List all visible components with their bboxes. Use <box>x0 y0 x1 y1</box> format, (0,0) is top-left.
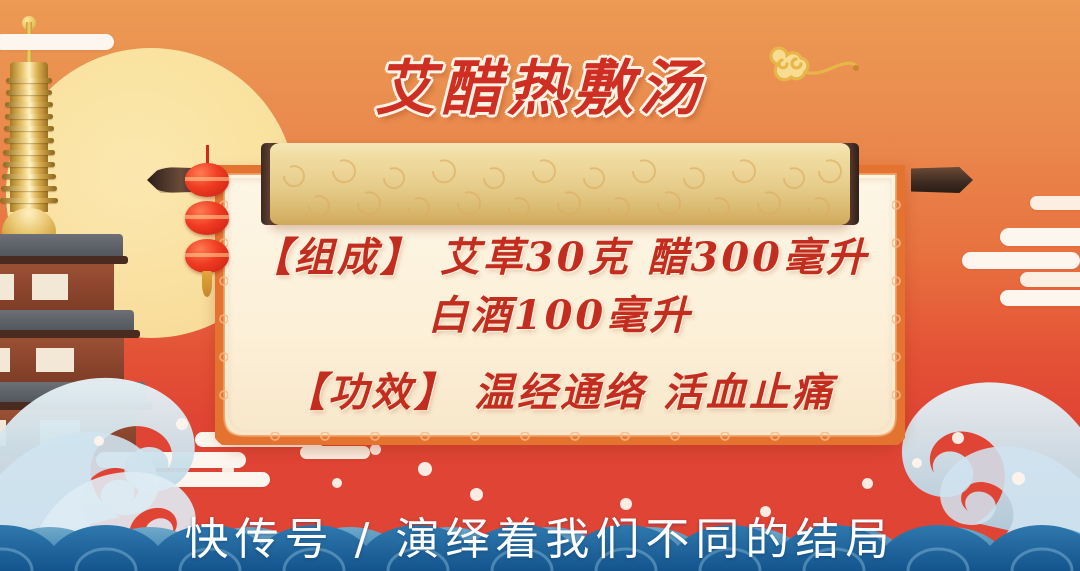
foam-dot <box>1012 472 1025 485</box>
scroll-text-line-2: 白酒100毫升 <box>228 283 892 341</box>
lantern-band <box>185 253 229 257</box>
red-lantern-string <box>185 145 231 290</box>
spire-ring <box>1 186 57 191</box>
foam-dot <box>332 478 342 488</box>
spire-ring <box>0 198 58 203</box>
pagoda-roof-edge <box>0 330 140 338</box>
foam-dot <box>370 444 381 455</box>
scroll-text-line-1: 【组成】 艾草30克 醋300毫升 <box>228 225 892 283</box>
foam-dot <box>912 458 922 468</box>
golden-cloud-ornament <box>760 42 860 98</box>
lantern-cord <box>206 145 209 165</box>
spire-ring <box>4 138 54 143</box>
lantern-band <box>185 177 229 181</box>
scroll-banner: 【组成】 艾草30克 醋300毫升 白酒100毫升 【功效】 温经通络 活血止痛 <box>215 125 905 445</box>
foam-dot <box>470 488 483 501</box>
foam-dot <box>94 436 104 446</box>
auspicious-cloud <box>1000 290 1080 306</box>
lantern-tassel <box>202 271 212 297</box>
auspicious-cloud <box>1000 228 1080 246</box>
poster-canvas: 艾醋热敷汤 <box>0 0 1080 571</box>
scroll-rod-knob-right <box>911 167 973 193</box>
foam-dot <box>418 462 432 476</box>
scroll-text-line-3: 【功效】 温经通络 活血止痛 <box>228 360 892 418</box>
rod-swirl-pattern <box>270 143 850 225</box>
spire-ring <box>2 174 56 179</box>
foam-dot <box>862 478 873 489</box>
foam-dot <box>176 418 188 430</box>
pagoda-window <box>0 274 14 300</box>
auspicious-cloud <box>1030 196 1080 210</box>
watermark-text: 快传号 / 演绎着我们不同的结局 <box>0 503 1080 567</box>
lantern-band <box>185 215 229 219</box>
page-title: 艾醋热敷汤 <box>0 40 1080 127</box>
pagoda-roof-edge <box>0 256 128 264</box>
auspicious-cloud <box>962 252 1080 269</box>
spire-ring <box>3 162 55 167</box>
auspicious-cloud <box>1020 272 1080 287</box>
foam-dot <box>222 464 234 476</box>
foam-dot <box>952 432 964 444</box>
spire-ring <box>3 150 55 155</box>
scroll-rod <box>270 143 850 225</box>
pagoda-window <box>32 274 68 300</box>
